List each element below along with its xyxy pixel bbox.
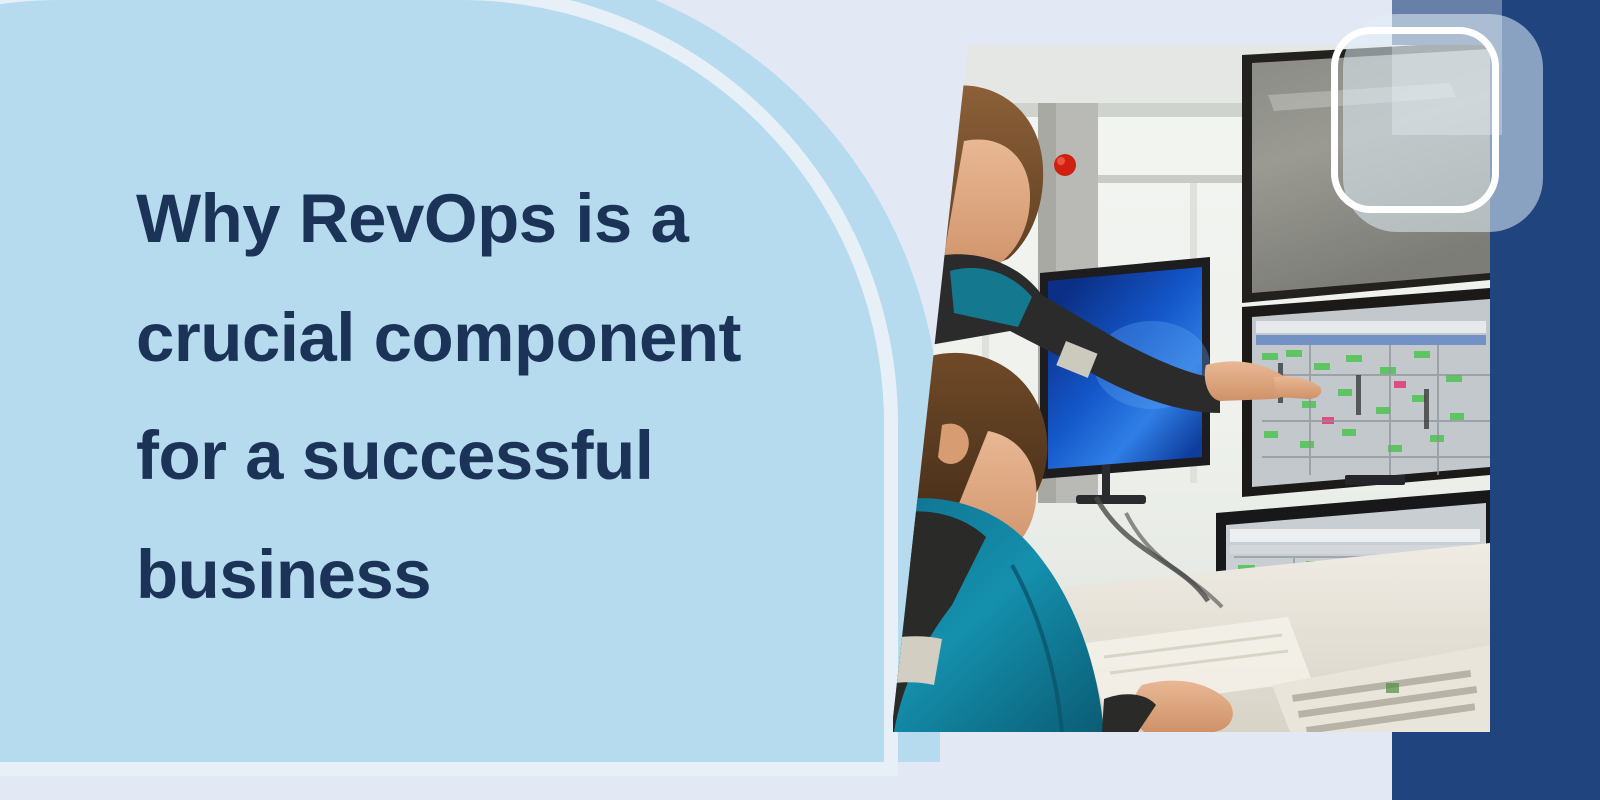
- decor-rounded-square-outline-icon: [1331, 27, 1499, 213]
- social-card-canvas: Why RevOps is a crucial component for a …: [0, 0, 1600, 800]
- page-title: Why RevOps is a crucial component for a …: [136, 160, 876, 635]
